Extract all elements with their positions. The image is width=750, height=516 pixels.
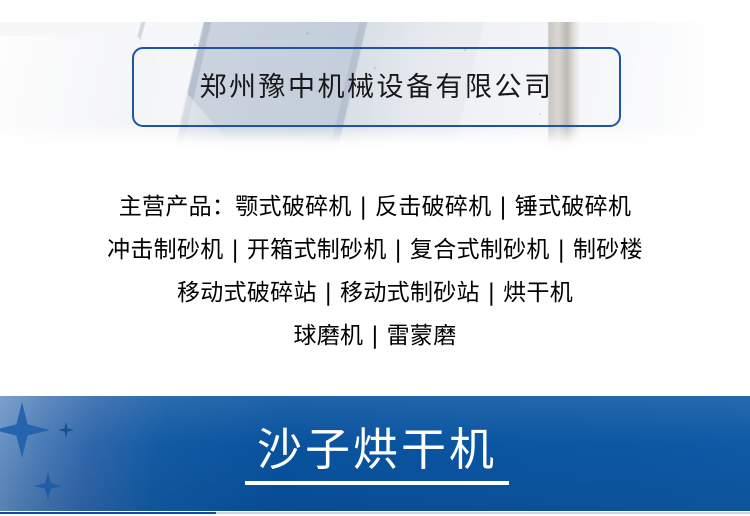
product-line-1: 主营产品：颚式破碎机 | 反击破碎机 | 锤式破碎机	[0, 186, 750, 229]
product-line-2: 冲击制砂机 | 开箱式制砂机 | 复合式制砂机 | 制砂楼	[0, 229, 750, 272]
product-list: 主营产品：颚式破碎机 | 反击破碎机 | 锤式破碎机 冲击制砂机 | 开箱式制砂…	[0, 186, 750, 358]
banner-title-group: 沙子烘干机	[0, 396, 750, 511]
company-name: 郑州豫中机械设备有限公司	[200, 74, 554, 101]
hero-photo-banner: 郑州豫中机械设备有限公司	[0, 22, 750, 150]
banner-title-underline	[245, 481, 509, 485]
hero-bottom-fade	[0, 124, 750, 150]
section-title-banner: 沙子烘干机	[0, 396, 750, 511]
footer-rule-light	[216, 512, 750, 514]
product-detail-page: 郑州豫中机械设备有限公司 主营产品：颚式破碎机 | 反击破碎机 | 锤式破碎机 …	[0, 0, 750, 516]
product-line-4: 球磨机 | 雷蒙磨	[0, 315, 750, 358]
banner-title: 沙子烘干机	[257, 422, 497, 473]
product-line-3: 移动式破碎站 | 移动式制砂站 | 烘干机	[0, 272, 750, 315]
footer-rule-dark	[0, 512, 216, 514]
company-name-box: 郑州豫中机械设备有限公司	[132, 47, 621, 127]
